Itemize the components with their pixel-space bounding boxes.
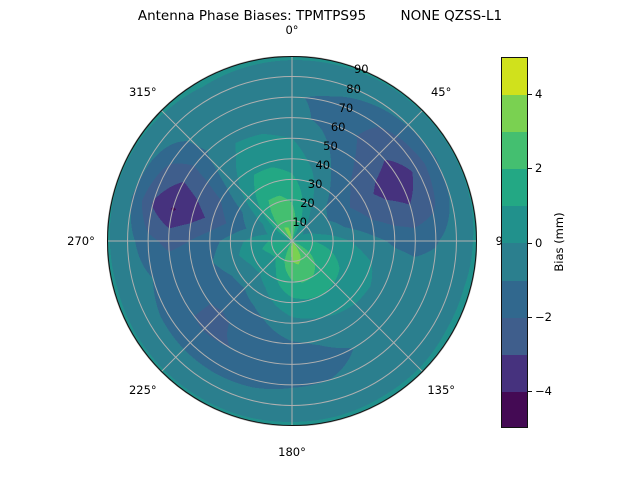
colorbar[interactable]: −4−2024 bbox=[501, 57, 528, 428]
colorbar-tick-label-4: 4 bbox=[535, 87, 542, 101]
colorbar-band-7 bbox=[502, 132, 527, 169]
figure-title: Antenna Phase Biases: TPMTPS95 NONE QZSS… bbox=[0, 8, 640, 24]
azimuth-tick-135: 135° bbox=[427, 383, 455, 397]
polar-axes[interactable] bbox=[107, 56, 477, 426]
colorbar-gradient bbox=[501, 57, 528, 428]
radial-tick-40: 40 bbox=[315, 158, 330, 172]
azimuth-tick-0: 0° bbox=[285, 23, 298, 37]
colorbar-band-8 bbox=[502, 95, 527, 132]
colorbar-tick-mark-1 bbox=[528, 317, 532, 318]
colorbar-band-1 bbox=[502, 355, 527, 392]
figure-canvas: Antenna Phase Biases: TPMTPS95 NONE QZSS… bbox=[0, 0, 640, 480]
azimuth-tick-315: 315° bbox=[129, 85, 157, 99]
azimuth-tick-270: 270° bbox=[67, 234, 95, 248]
colorbar-band-0 bbox=[502, 392, 527, 428]
radial-tick-10: 10 bbox=[292, 215, 307, 229]
radial-tick-80: 80 bbox=[346, 82, 361, 96]
azimuth-tick-45: 45° bbox=[431, 85, 451, 99]
colorbar-tick-mark-0 bbox=[528, 391, 532, 392]
colorbar-tick-mark-4 bbox=[528, 94, 532, 95]
colorbar-band-3 bbox=[502, 281, 527, 318]
radial-tick-70: 70 bbox=[339, 101, 354, 115]
polar-contour-plot bbox=[107, 56, 477, 426]
radial-tick-20: 20 bbox=[300, 196, 315, 210]
polar-data-region bbox=[107, 56, 477, 426]
azimuth-tick-180: 180° bbox=[278, 445, 306, 459]
radial-tick-90: 90 bbox=[354, 62, 369, 76]
colorbar-tick-mark-3 bbox=[528, 168, 532, 169]
azimuth-tick-225: 225° bbox=[129, 383, 157, 397]
colorbar-label: Bias (mm) bbox=[552, 212, 566, 271]
radial-tick-60: 60 bbox=[331, 120, 346, 134]
colorbar-band-6 bbox=[502, 169, 527, 206]
radial-tick-30: 30 bbox=[308, 177, 323, 191]
colorbar-band-2 bbox=[502, 318, 527, 355]
colorbar-band-4 bbox=[502, 243, 527, 280]
colorbar-tick-label-1: −2 bbox=[535, 310, 552, 324]
colorbar-band-5 bbox=[502, 206, 527, 243]
colorbar-tick-label-0: −4 bbox=[535, 384, 552, 398]
colorbar-tick-label-3: 2 bbox=[535, 161, 542, 175]
radial-tick-50: 50 bbox=[323, 139, 338, 153]
colorbar-band-9 bbox=[502, 58, 527, 95]
colorbar-tick-label-2: 0 bbox=[535, 236, 542, 250]
colorbar-tick-mark-2 bbox=[528, 243, 532, 244]
